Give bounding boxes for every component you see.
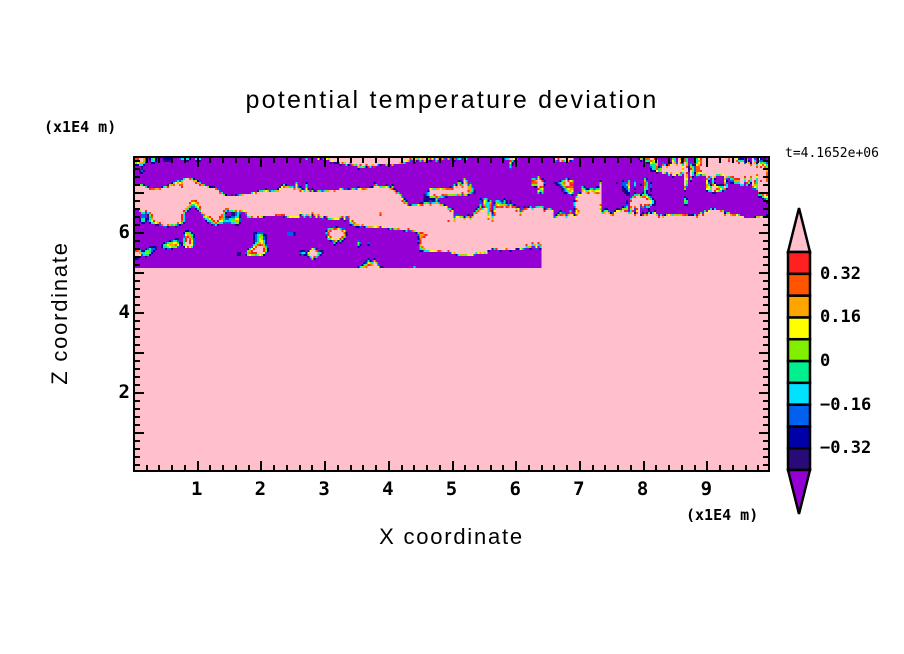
x-tick-mark [732, 465, 734, 470]
y-tick-mark-right [763, 176, 768, 178]
x-tick-mark [413, 465, 415, 470]
y-tick-mark-right [763, 216, 768, 218]
y-tick-mark [135, 320, 140, 322]
y-tick-mark [135, 240, 140, 242]
x-tick-label: 9 [701, 478, 712, 500]
x-tick-mark [426, 465, 428, 470]
x-tick-mark-top [490, 158, 492, 163]
y-tick-mark [135, 416, 140, 418]
colorbar-tick-labels: 0.320.160−0.16−0.32 [820, 206, 900, 516]
y-tick-mark-right [763, 416, 768, 418]
y-tick-mark-right [759, 192, 768, 194]
x-tick-mark [248, 465, 250, 470]
contour-plot-area [133, 156, 770, 472]
x-tick-mark [490, 465, 492, 470]
x-tick-mark-top [592, 158, 594, 163]
y-tick-mark-right [763, 224, 768, 226]
y-axis-title: Z coordinate [47, 193, 73, 433]
colorbar [782, 206, 818, 516]
y-tick-mark-right [763, 368, 768, 370]
x-tick-mark-top [706, 158, 708, 167]
x-tick-mark-top [643, 158, 645, 167]
y-tick-mark-right [759, 272, 768, 274]
x-tick-mark [592, 465, 594, 470]
x-tick-label: 6 [509, 478, 520, 500]
colorbar-band [788, 426, 810, 448]
x-tick-mark [388, 461, 390, 470]
y-tick-mark [135, 208, 140, 210]
y-tick-mark-right [759, 432, 768, 434]
contour-field [135, 158, 768, 470]
y-tick-mark [135, 192, 144, 194]
y-tick-mark-right [763, 344, 768, 346]
x-tick-mark [273, 465, 275, 470]
y-tick-mark-right [763, 408, 768, 410]
x-tick-mark [617, 465, 619, 470]
y-tick-mark-right [763, 400, 768, 402]
y-tick-mark [135, 328, 140, 330]
x-tick-mark-top [630, 158, 632, 163]
x-tick-mark-top [146, 158, 148, 163]
x-tick-mark-top [515, 158, 517, 167]
y-tick-mark [135, 360, 140, 362]
y-tick-mark-right [763, 384, 768, 386]
y-tick-mark [135, 224, 140, 226]
x-tick-mark-top [566, 158, 568, 163]
y-tick-mark-right [759, 232, 768, 234]
x-tick-mark [362, 465, 364, 470]
x-tick-mark-top [502, 158, 504, 163]
x-tick-mark-top [477, 158, 479, 163]
colorbar-band [788, 448, 810, 470]
y-tick-mark-right [763, 376, 768, 378]
x-tick-mark [171, 465, 173, 470]
x-tick-mark-top [324, 158, 326, 167]
x-tick-label: 4 [382, 478, 393, 500]
x-tick-label: 5 [446, 478, 457, 500]
x-tick-mark-top [426, 158, 428, 163]
x-tick-mark-top [604, 158, 606, 163]
y-tick-mark [135, 384, 140, 386]
y-tick-mark-right [763, 448, 768, 450]
y-tick-mark [135, 408, 140, 410]
x-tick-mark [286, 465, 288, 470]
x-tick-mark-top [413, 158, 415, 163]
x-tick-mark-top [528, 158, 530, 163]
y-tick-mark [135, 184, 140, 186]
x-tick-mark-top [401, 158, 403, 163]
x-tick-mark-top [617, 158, 619, 163]
colorbar-band [788, 361, 810, 383]
x-tick-mark [311, 465, 313, 470]
y-tick-mark [135, 440, 140, 442]
x-tick-mark-top [668, 158, 670, 163]
x-tick-mark [146, 465, 148, 470]
x-tick-mark-top [299, 158, 301, 163]
x-tick-mark-top [209, 158, 211, 163]
y-axis-tick-labels: 246 [90, 156, 130, 472]
x-tick-mark-top [311, 158, 313, 163]
x-tick-mark [184, 465, 186, 470]
x-tick-mark-top [579, 158, 581, 167]
y-tick-mark [135, 160, 140, 162]
colorbar-band [788, 252, 810, 274]
y-tick-mark [135, 264, 140, 266]
x-tick-mark-top [464, 158, 466, 163]
y-tick-mark-right [763, 296, 768, 298]
x-tick-label: 3 [318, 478, 329, 500]
x-tick-mark [541, 465, 543, 470]
y-tick-mark-right [763, 168, 768, 170]
x-tick-mark-top [350, 158, 352, 163]
y-tick-mark [135, 456, 140, 458]
x-tick-mark [681, 465, 683, 470]
x-tick-mark-top [732, 158, 734, 163]
y-tick-mark-right [763, 264, 768, 266]
colorbar-band [788, 383, 810, 405]
x-tick-mark-top [681, 158, 683, 163]
x-tick-label: 8 [637, 478, 648, 500]
y-tick-label: 2 [119, 381, 130, 403]
y-tick-mark-right [763, 240, 768, 242]
x-tick-mark-top [452, 158, 454, 167]
x-tick-mark-top [719, 158, 721, 163]
y-tick-mark [135, 368, 140, 370]
x-tick-mark-top [248, 158, 250, 163]
y-tick-mark-right [763, 288, 768, 290]
x-tick-mark-top [158, 158, 160, 163]
y-tick-mark [135, 280, 140, 282]
y-tick-mark-right [763, 328, 768, 330]
y-tick-mark [135, 200, 140, 202]
x-tick-mark [197, 461, 199, 470]
x-tick-mark [324, 461, 326, 470]
y-tick-mark [135, 272, 144, 274]
y-tick-mark-right [763, 320, 768, 322]
x-tick-mark-top [375, 158, 377, 163]
y-tick-mark [135, 176, 140, 178]
x-tick-mark [528, 465, 530, 470]
colorbar-band [788, 274, 810, 296]
x-tick-mark-top [184, 158, 186, 163]
time-annotation: t=4.1652e+06 [785, 146, 879, 161]
x-tick-mark [604, 465, 606, 470]
x-tick-mark [745, 465, 747, 470]
x-tick-mark [643, 461, 645, 470]
y-tick-mark [135, 256, 140, 258]
x-axis-title: X coordinate [133, 524, 770, 550]
x-axis-tick-labels: 123456789 [133, 478, 770, 502]
x-tick-mark-top [439, 158, 441, 163]
y-tick-mark-right [763, 208, 768, 210]
x-tick-label: 2 [255, 478, 266, 500]
colorbar-band [788, 317, 810, 339]
y-tick-mark [135, 400, 140, 402]
y-tick-label: 4 [119, 301, 130, 323]
x-tick-mark-top [222, 158, 224, 163]
y-tick-mark-right [759, 312, 768, 314]
x-tick-mark [439, 465, 441, 470]
y-tick-mark [135, 216, 140, 218]
x-tick-mark-top [337, 158, 339, 163]
y-tick-mark [135, 312, 144, 314]
y-tick-mark [135, 336, 140, 338]
colorbar-tick-label: 0.32 [820, 264, 861, 284]
x-axis-unit-label: (x1E4 m) [686, 506, 758, 524]
y-tick-mark-right [763, 304, 768, 306]
x-tick-mark-top [541, 158, 543, 163]
x-tick-mark [401, 465, 403, 470]
x-tick-mark [668, 465, 670, 470]
y-tick-mark-right [763, 160, 768, 162]
y-tick-mark [135, 232, 144, 234]
x-tick-mark [337, 465, 339, 470]
y-tick-mark-right [763, 360, 768, 362]
x-tick-mark [515, 461, 517, 470]
x-tick-mark [477, 465, 479, 470]
x-tick-mark [209, 465, 211, 470]
x-tick-mark-top [388, 158, 390, 167]
x-tick-mark [299, 465, 301, 470]
x-tick-mark [502, 465, 504, 470]
colorbar-tick-label: −0.16 [820, 395, 871, 415]
y-tick-mark [135, 432, 144, 434]
x-tick-mark [350, 465, 352, 470]
colorbar-tick-label: −0.32 [820, 438, 871, 458]
y-tick-mark [135, 376, 140, 378]
y-tick-mark-right [763, 280, 768, 282]
x-tick-mark-top [260, 158, 262, 167]
x-tick-mark [630, 465, 632, 470]
y-tick-mark [135, 344, 140, 346]
y-tick-mark [135, 304, 140, 306]
y-tick-mark [135, 392, 144, 394]
x-tick-label: 1 [191, 478, 202, 500]
y-tick-mark-right [763, 200, 768, 202]
page-title: potential temperature deviation [0, 86, 904, 115]
x-tick-mark-top [197, 158, 199, 167]
y-tick-mark-right [759, 352, 768, 354]
x-tick-mark [579, 461, 581, 470]
y-tick-mark-right [763, 456, 768, 458]
y-tick-mark [135, 296, 140, 298]
x-tick-mark-top [286, 158, 288, 163]
y-tick-mark [135, 448, 140, 450]
y-tick-label: 6 [119, 221, 130, 243]
x-tick-mark [566, 465, 568, 470]
x-tick-mark [719, 465, 721, 470]
x-tick-mark-top [745, 158, 747, 163]
x-tick-mark-top [171, 158, 173, 163]
x-tick-mark-top [273, 158, 275, 163]
x-tick-mark [452, 461, 454, 470]
colorbar-band [788, 296, 810, 318]
colorbar-tick-label: 0.16 [820, 307, 861, 327]
x-tick-mark-top [655, 158, 657, 163]
y-tick-mark-right [763, 464, 768, 466]
y-tick-mark-right [763, 440, 768, 442]
colorbar-tick-label: 0 [820, 351, 830, 371]
y-tick-mark [135, 424, 140, 426]
x-tick-mark [553, 465, 555, 470]
x-tick-mark [464, 465, 466, 470]
x-tick-mark-top [694, 158, 696, 163]
y-tick-mark [135, 464, 140, 466]
y-tick-mark-right [763, 184, 768, 186]
x-tick-mark [260, 461, 262, 470]
x-tick-mark [375, 465, 377, 470]
x-tick-mark-top [553, 158, 555, 163]
colorbar-band [788, 339, 810, 361]
y-tick-mark-right [763, 336, 768, 338]
x-tick-mark-top [362, 158, 364, 163]
y-tick-mark [135, 352, 144, 354]
x-tick-mark [757, 465, 759, 470]
x-tick-mark-top [235, 158, 237, 163]
x-tick-mark [235, 465, 237, 470]
y-tick-mark-right [763, 424, 768, 426]
x-tick-mark-top [757, 158, 759, 163]
y-axis-unit-label: (x1E4 m) [44, 118, 116, 136]
y-tick-mark [135, 288, 140, 290]
x-tick-mark [706, 461, 708, 470]
colorbar-band [788, 405, 810, 427]
colorbar-over-arrow [788, 208, 810, 252]
y-tick-mark-right [763, 248, 768, 250]
x-tick-mark [694, 465, 696, 470]
x-tick-mark [158, 465, 160, 470]
colorbar-under-arrow [788, 470, 810, 514]
y-tick-mark [135, 168, 140, 170]
y-tick-mark-right [759, 392, 768, 394]
y-tick-mark [135, 248, 140, 250]
y-tick-mark-right [763, 256, 768, 258]
x-tick-mark [655, 465, 657, 470]
x-tick-label: 7 [573, 478, 584, 500]
x-tick-mark [222, 465, 224, 470]
